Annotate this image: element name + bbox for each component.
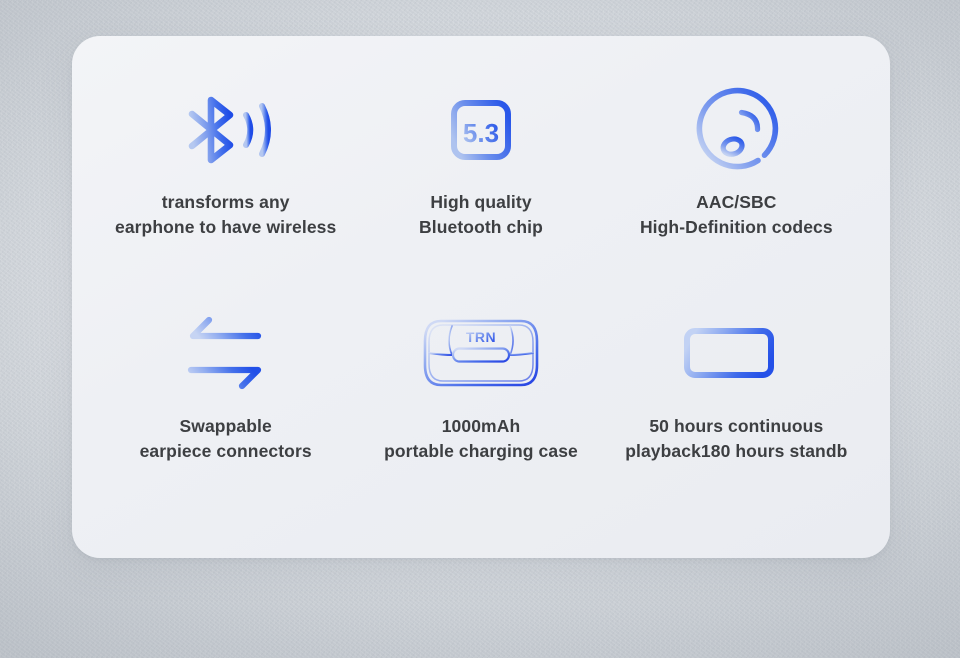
caption-line-2: playback180 hours standb [625, 439, 847, 464]
feature-item-charging-case: TRN 1000mAh portable charging case [353, 296, 608, 508]
swap-arrows-icon [180, 310, 272, 396]
feature-caption: 50 hours continuous playback180 hours st… [625, 414, 847, 465]
caption-line-1: AAC/SBC [696, 192, 776, 212]
feature-caption: 1000mAh portable charging case [384, 414, 578, 465]
caption-line-2: High-Definition codecs [640, 215, 833, 240]
feature-caption: High quality Bluetooth chip [419, 190, 543, 241]
battery-full-icon [681, 310, 791, 396]
caption-line-2: earphone to have wireless [115, 215, 336, 240]
feature-item-battery: 50 hours continuous playback180 hours st… [609, 296, 864, 508]
feature-caption: Swappable earpiece connectors [140, 414, 312, 465]
caption-line-1: 50 hours continuous [649, 416, 823, 436]
feature-card: transforms any earphone to have wireless [72, 36, 890, 558]
case-brand-label: TRN [466, 329, 496, 345]
feature-item-bluetooth: transforms any earphone to have wireless [98, 84, 353, 296]
feature-item-chip: 5.3 High quality Bluetooth chip [353, 84, 608, 296]
caption-line-1: 1000mAh [442, 416, 521, 436]
feature-grid: transforms any earphone to have wireless [72, 36, 890, 558]
caption-line-2: Bluetooth chip [419, 215, 543, 240]
music-note-circle-icon [690, 84, 782, 176]
caption-line-1: High quality [430, 192, 531, 212]
caption-line-2: portable charging case [384, 439, 578, 464]
charging-case-icon: TRN [419, 310, 543, 396]
bluetooth-signal-icon [174, 84, 278, 176]
feature-caption: AAC/SBC High-Definition codecs [640, 190, 833, 241]
chip-version-label: 5.3 [463, 118, 499, 148]
feature-item-swappable: Swappable earpiece connectors [98, 296, 353, 508]
feature-item-codecs: AAC/SBC High-Definition codecs [609, 84, 864, 296]
caption-line-2: earpiece connectors [140, 439, 312, 464]
caption-line-1: transforms any [162, 192, 290, 212]
caption-line-1: Swappable [179, 416, 271, 436]
feature-caption: transforms any earphone to have wireless [115, 190, 336, 241]
bluetooth-chip-icon: 5.3 [433, 84, 529, 176]
